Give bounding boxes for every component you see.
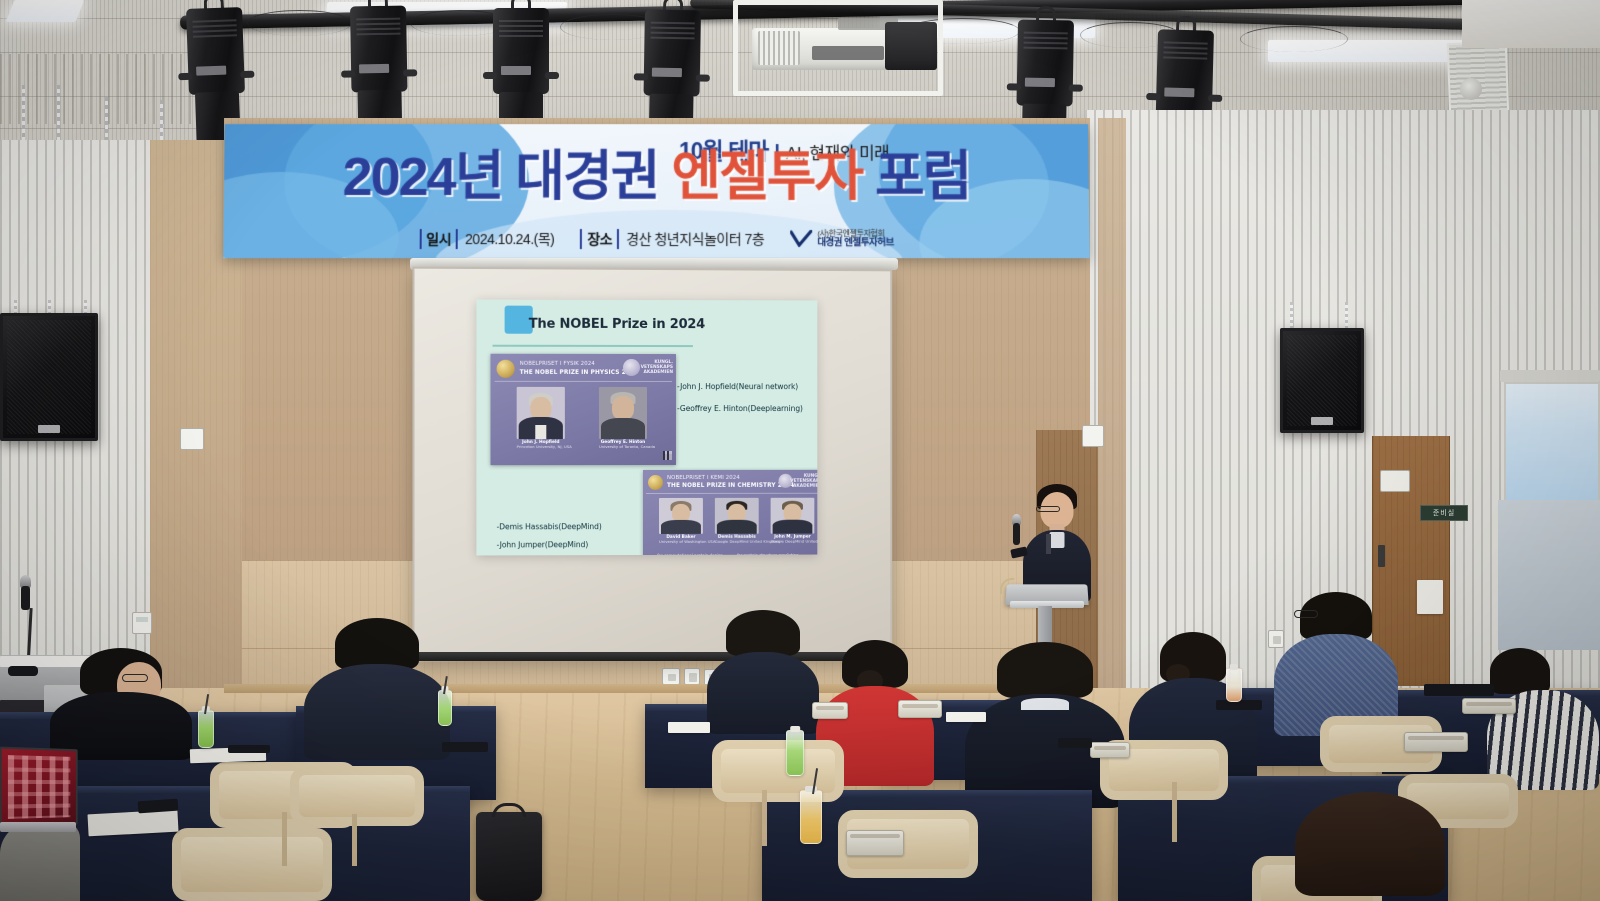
av-equipment <box>8 666 38 676</box>
conference-hall-photo: 준비실 10월 테마 | AI, 현재와 미래 2024년 대경권 엔젤투자 포… <box>0 0 1600 901</box>
organizer-logo: (사)한국엔젤투자협회 대경권 엔젤투자허브 <box>790 230 894 248</box>
handheld-microphone[interactable] <box>1013 523 1020 545</box>
stage-light <box>645 10 701 11</box>
laureate: John M. Jumper Google DeepMind United Ki… <box>771 498 815 544</box>
chem-headline-en: THE NOBEL PRIZE IN CHEMISTRY 2024 <box>667 483 794 489</box>
document[interactable] <box>668 722 710 733</box>
wall-outlet <box>684 668 700 685</box>
laureate-affiliation: University of Washington USA <box>659 540 703 545</box>
laureate-affiliation: Princeton University, NJ, USA <box>517 445 565 450</box>
wall-thermostat[interactable] <box>132 612 152 634</box>
stage-light <box>1018 20 1074 21</box>
chair[interactable] <box>712 740 844 802</box>
projector-vent <box>758 31 800 65</box>
qr-code-icon <box>663 451 672 460</box>
lunch-box[interactable] <box>812 702 848 719</box>
attendee <box>1272 592 1400 736</box>
attendee <box>302 618 452 758</box>
stage-light <box>350 6 406 7</box>
attendee <box>1486 648 1600 788</box>
wall-notice <box>1417 580 1443 614</box>
presentation-slide: The NOBEL Prize in 2024 NOBELPRISET I FY… <box>476 300 817 556</box>
projector-cable-box <box>885 22 937 70</box>
wall-plate <box>1082 425 1104 447</box>
laptop-base[interactable] <box>0 822 76 832</box>
eyeglasses-icon <box>1294 610 1318 618</box>
banner-footer: 일시 2024.10.24.(목) 장소 경산 청년지식놀이터 7층 (사)한국… <box>223 229 1089 249</box>
eyeglasses-icon <box>1036 506 1060 512</box>
slide-bullet-left-2: -John Jumper(DeepMind) <box>497 540 589 549</box>
blind-headrail[interactable] <box>1500 370 1600 382</box>
ceiling-plenum <box>1462 0 1600 48</box>
laureate: John J. Hopfield Princeton University, N… <box>517 387 565 450</box>
banner-date-key: 일시 <box>419 229 458 249</box>
lunch-box[interactable] <box>1404 732 1468 752</box>
document[interactable] <box>946 712 986 722</box>
door-handle[interactable] <box>1378 545 1385 567</box>
physics-headline-en: THE NOBEL PRIZE IN PHYSICS 2024 <box>520 370 638 376</box>
organizer-subname: 대경권 엔젤투자허브 <box>817 238 893 248</box>
window-blind[interactable] <box>1504 382 1600 502</box>
academy-seal-icon <box>623 359 640 376</box>
eyeglasses-icon <box>122 674 148 682</box>
presenter <box>1020 484 1094 600</box>
drink-bottle[interactable] <box>786 730 804 776</box>
slide-bullet-right-2: -Geoffrey E. Hinton(Deeplearning) <box>677 404 803 413</box>
door-window-panel <box>1380 470 1410 492</box>
banner-date-group: 일시 2024.10.24.(목) <box>419 229 554 249</box>
window-sill <box>1498 500 1600 650</box>
lunch-box[interactable] <box>1090 742 1130 758</box>
banner-title-part2: 엔젤투자 <box>671 147 862 207</box>
laureate-affiliation: University of Toronto, Canada <box>599 445 647 450</box>
pen[interactable] <box>228 745 270 753</box>
phone[interactable] <box>442 742 488 752</box>
banner-place-value: 경산 청년지식놀이터 7층 <box>626 229 764 249</box>
event-banner: 10월 테마 | AI, 현재와 미래 2024년 대경권 엔젤투자 포럼 일시… <box>223 124 1090 258</box>
banner-place-key: 장소 <box>580 229 619 249</box>
laureate: Demis Hassabis Google DeepMind United Ki… <box>715 498 759 545</box>
chem-headline-sv: NOBELPRISET I KEMI 2024 <box>667 475 740 481</box>
laptop-screen[interactable] <box>0 747 78 828</box>
tablet[interactable] <box>1424 684 1494 696</box>
door-sign-preparation-room: 준비실 <box>1420 505 1468 521</box>
laureate-affiliation: Google DeepMind United Kingdom <box>771 540 815 545</box>
academy-line-3: AKADEMIEN <box>643 370 673 375</box>
backpack[interactable] <box>476 812 542 901</box>
nobel-medal-icon <box>648 475 663 490</box>
banner-date-value: 2024.10.24.(목) <box>465 229 554 249</box>
drink-bottle[interactable] <box>198 710 214 748</box>
pa-speaker-left <box>0 313 98 441</box>
lunch-box[interactable] <box>898 700 942 718</box>
nobel-physics-card: NOBELPRISET I FYSIK 2024 THE NOBEL PRIZE… <box>491 354 676 465</box>
physics-headline-sv: NOBELPRISET I FYSIK 2024 <box>520 361 595 367</box>
dome-camera <box>1460 78 1482 100</box>
stand-microphone[interactable] <box>21 586 30 610</box>
drink-bottle[interactable] <box>800 790 822 844</box>
laureate: David Baker University of Washington USA <box>659 498 703 545</box>
door-sign-label: 준비실 <box>1433 508 1455 518</box>
banner-title: 2024년 대경권 엔젤투자 포럼 <box>224 150 1089 204</box>
slide-bullet-left-1: -Demis Hassabis(DeepMind) <box>497 522 602 531</box>
chair[interactable] <box>290 766 424 826</box>
banner-title-part3: 포럼 <box>862 147 971 207</box>
laureate-affiliation: Google DeepMind United Kingdom <box>715 540 759 545</box>
checkmark-logo-icon <box>790 231 812 248</box>
banner-title-part1: 2024년 대경권 <box>342 147 671 207</box>
laureate: Geoffrey E. Hinton University of Toronto… <box>599 387 647 450</box>
chair[interactable] <box>172 828 332 901</box>
ceiling-light-fixture <box>6 0 85 22</box>
pa-speaker-right <box>1280 328 1364 433</box>
nobel-medal-icon <box>497 360 515 378</box>
phone[interactable] <box>1058 738 1092 748</box>
notebook[interactable] <box>87 810 178 837</box>
wall-plate <box>180 428 204 450</box>
attendee <box>1290 792 1450 901</box>
academy-line-3: AKADEMIEN <box>793 484 817 489</box>
attendee <box>48 648 194 758</box>
slide-title: The NOBEL Prize in 2024 <box>529 317 705 332</box>
slide-divider <box>493 345 693 347</box>
wall-outlet <box>662 668 680 685</box>
nobel-chemistry-card: NOBELPRISET I KEMI 2024 THE NOBEL PRIZE … <box>643 470 817 556</box>
drink-bottle[interactable] <box>1226 668 1242 702</box>
attendee <box>706 610 820 730</box>
banner-place-group: 장소 경산 청년지식놀이터 7층 <box>580 229 764 249</box>
slide-bullet-right-1: -John J. Hopfield(Neural network) <box>677 382 798 391</box>
drink-bottle[interactable] <box>438 690 452 726</box>
lunch-box[interactable] <box>1462 698 1516 714</box>
lunch-box[interactable] <box>846 830 904 856</box>
